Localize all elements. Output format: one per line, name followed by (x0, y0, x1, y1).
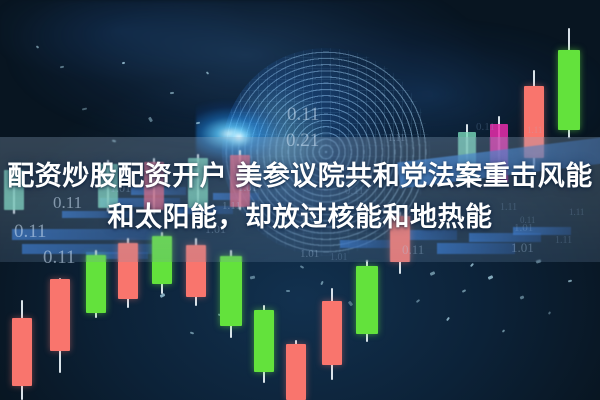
ghost-number: 1.01 (511, 240, 534, 256)
ghost-number: 1.01 (330, 252, 348, 263)
ghost-number: 0.11 (287, 104, 320, 126)
ghost-number: 0.11 (43, 247, 76, 269)
ghost-number: 0.11 (476, 121, 495, 133)
headline-text: 配资炒股配资开户 美参议院共和党法案重击风能 和太阳能，却放过核能和地热能 (0, 156, 600, 238)
headline-line-2: 和太阳能，却放过核能和地热能 (0, 197, 600, 238)
headline-line-1: 配资炒股配资开户 美参议院共和党法案重击风能 (0, 156, 600, 197)
ghost-number: 0.21 (286, 130, 319, 152)
ghost-number: 1.11 (388, 133, 405, 144)
ghost-number: 1.01 (300, 248, 319, 260)
ghost-number: 1.11 (527, 125, 542, 135)
stock-market-banner-image: 0.110.211.110.111.110.111.011.111.010.11… (0, 0, 600, 400)
ghost-number: 0.11 (402, 242, 424, 258)
